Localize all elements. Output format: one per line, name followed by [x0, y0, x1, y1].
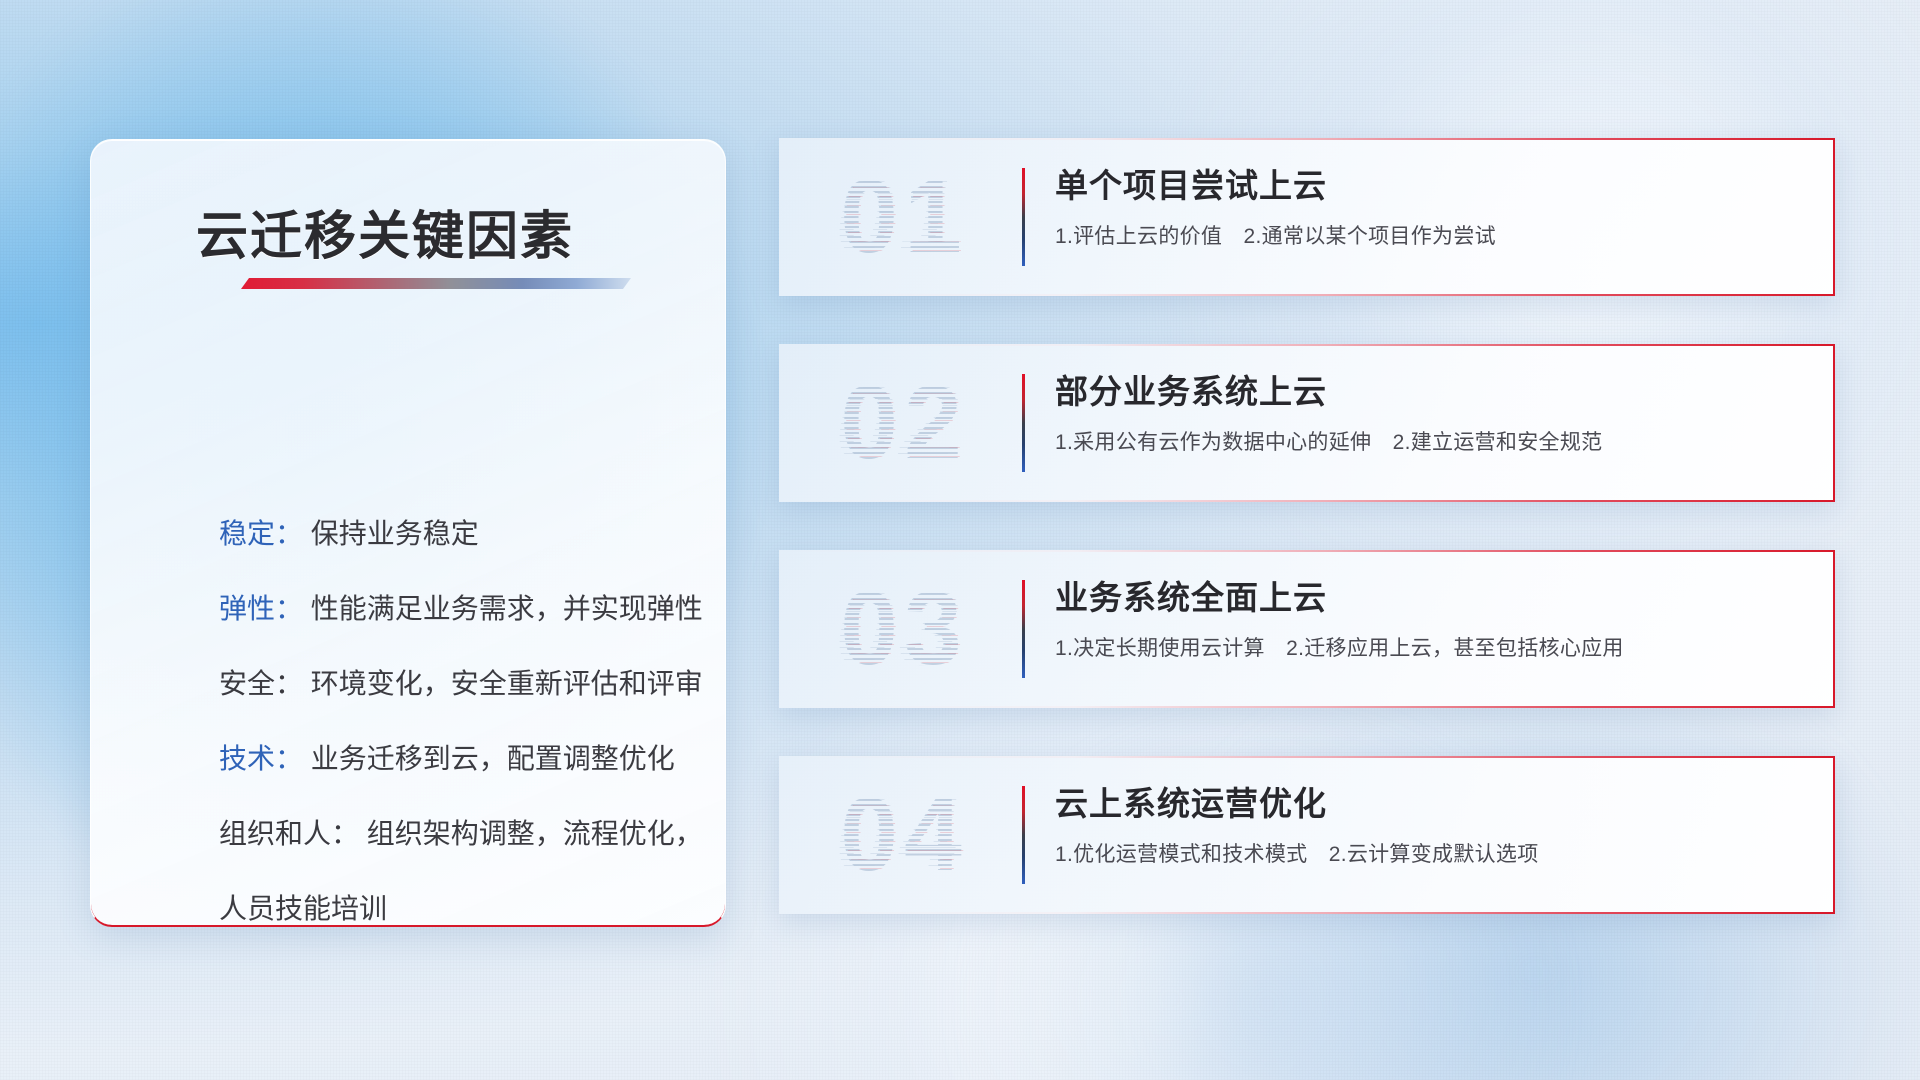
factor-value: 业务迁移到云，配置调整优化 [311, 743, 675, 774]
factor-row: 弹性： 性能满足业务需求，并实现弹性 [219, 595, 685, 623]
step-divider-bar [1022, 374, 1025, 472]
card-top-accent-border [779, 138, 1835, 140]
card-right-accent-border [1833, 138, 1835, 296]
card-top-accent-border [779, 550, 1835, 552]
step-description: 1.采用公有云作为数据中心的延伸 2.建立运营和安全规范 [1055, 426, 1795, 456]
step-number-glitch-numeral: 010101 [819, 156, 989, 278]
factor-value: 组织架构调整，流程优化， [367, 818, 703, 849]
step-divider-bar [1022, 168, 1025, 266]
step-description: 1.决定长期使用云计算 2.迁移应用上云，甚至包括核心应用 [1055, 632, 1795, 662]
factor-row: 安全： 环境变化，安全重新评估和评审 [219, 670, 685, 698]
step-title: 云上系统运营优化 [1055, 784, 1795, 824]
card-bottom-accent-border [779, 294, 1835, 296]
factor-key: 技术： [219, 743, 303, 774]
step-number-glitch-numeral: 030303 [819, 568, 989, 690]
step-number-layer: 02 [803, 362, 999, 484]
card-right-accent-border [1833, 756, 1835, 914]
step-text-block: 单个项目尝试上云1.评估上云的价值 2.通常以某个项目作为尝试 [1055, 166, 1795, 250]
step-text-block: 业务系统全面上云1.决定长期使用云计算 2.迁移应用上云，甚至包括核心应用 [1055, 578, 1795, 662]
migration-steps-list: 010101单个项目尝试上云1.评估上云的价值 2.通常以某个项目作为尝试020… [779, 138, 1835, 914]
factor-key: 稳定： [219, 518, 303, 549]
key-factors-panel: 云迁移关键因素 稳定： 保持业务稳定弹性： 性能满足业务需求，并实现弹性安全： … [90, 139, 726, 927]
factor-value: 环境变化，安全重新评估和评审 [311, 668, 703, 699]
factor-row: 稳定： 保持业务稳定 [219, 520, 685, 548]
factor-key: 组织和人： [219, 818, 359, 849]
card-top-accent-border [779, 344, 1835, 346]
card-bottom-accent-border [779, 706, 1835, 708]
step-number-layer: 01 [803, 156, 999, 278]
step-description: 1.优化运营模式和技术模式 2.云计算变成默认选项 [1055, 838, 1795, 868]
step-number-layer: 03 [803, 568, 999, 690]
factor-row: 组织和人： 组织架构调整，流程优化， [219, 820, 685, 848]
key-factors-list: 稳定： 保持业务稳定弹性： 性能满足业务需求，并实现弹性安全： 环境变化，安全重… [219, 520, 685, 923]
step-text-block: 云上系统运营优化1.优化运营模式和技术模式 2.云计算变成默认选项 [1055, 784, 1795, 868]
card-bottom-accent-border [779, 500, 1835, 502]
step-card[interactable]: 010101单个项目尝试上云1.评估上云的价值 2.通常以某个项目作为尝试 [779, 138, 1835, 296]
factor-value: 性能满足业务需求，并实现弹性 [311, 593, 703, 624]
step-card[interactable]: 020202部分业务系统上云1.采用公有云作为数据中心的延伸 2.建立运营和安全… [779, 344, 1835, 502]
step-description: 1.评估上云的价值 2.通常以某个项目作为尝试 [1055, 220, 1795, 250]
step-number-glitch-numeral: 020202 [819, 362, 989, 484]
step-card[interactable]: 040404云上系统运营优化1.优化运营模式和技术模式 2.云计算变成默认选项 [779, 756, 1835, 914]
card-top-accent-border [779, 756, 1835, 758]
step-divider-bar [1022, 786, 1025, 884]
step-divider-bar [1022, 580, 1025, 678]
slide-stage: 云迁移关键因素 稳定： 保持业务稳定弹性： 性能满足业务需求，并实现弹性安全： … [0, 0, 1920, 1080]
card-right-accent-border [1833, 344, 1835, 502]
step-number-layer: 04 [803, 774, 999, 896]
panel-title: 云迁移关键因素 [196, 194, 574, 269]
title-underline-gradient [241, 278, 631, 289]
factor-continuation-line: 人员技能培训 [219, 895, 685, 923]
factor-value: 保持业务稳定 [311, 518, 479, 549]
step-number-glitch-numeral: 040404 [819, 774, 989, 896]
factor-key: 安全： [219, 668, 303, 699]
card-bottom-accent-border [779, 912, 1835, 914]
factor-key: 弹性： [219, 593, 303, 624]
step-title: 部分业务系统上云 [1055, 372, 1795, 412]
factor-row: 技术： 业务迁移到云，配置调整优化 [219, 745, 685, 773]
step-card[interactable]: 030303业务系统全面上云1.决定长期使用云计算 2.迁移应用上云，甚至包括核… [779, 550, 1835, 708]
step-text-block: 部分业务系统上云1.采用公有云作为数据中心的延伸 2.建立运营和安全规范 [1055, 372, 1795, 456]
step-title: 单个项目尝试上云 [1055, 166, 1795, 206]
step-title: 业务系统全面上云 [1055, 578, 1795, 618]
card-right-accent-border [1833, 550, 1835, 708]
